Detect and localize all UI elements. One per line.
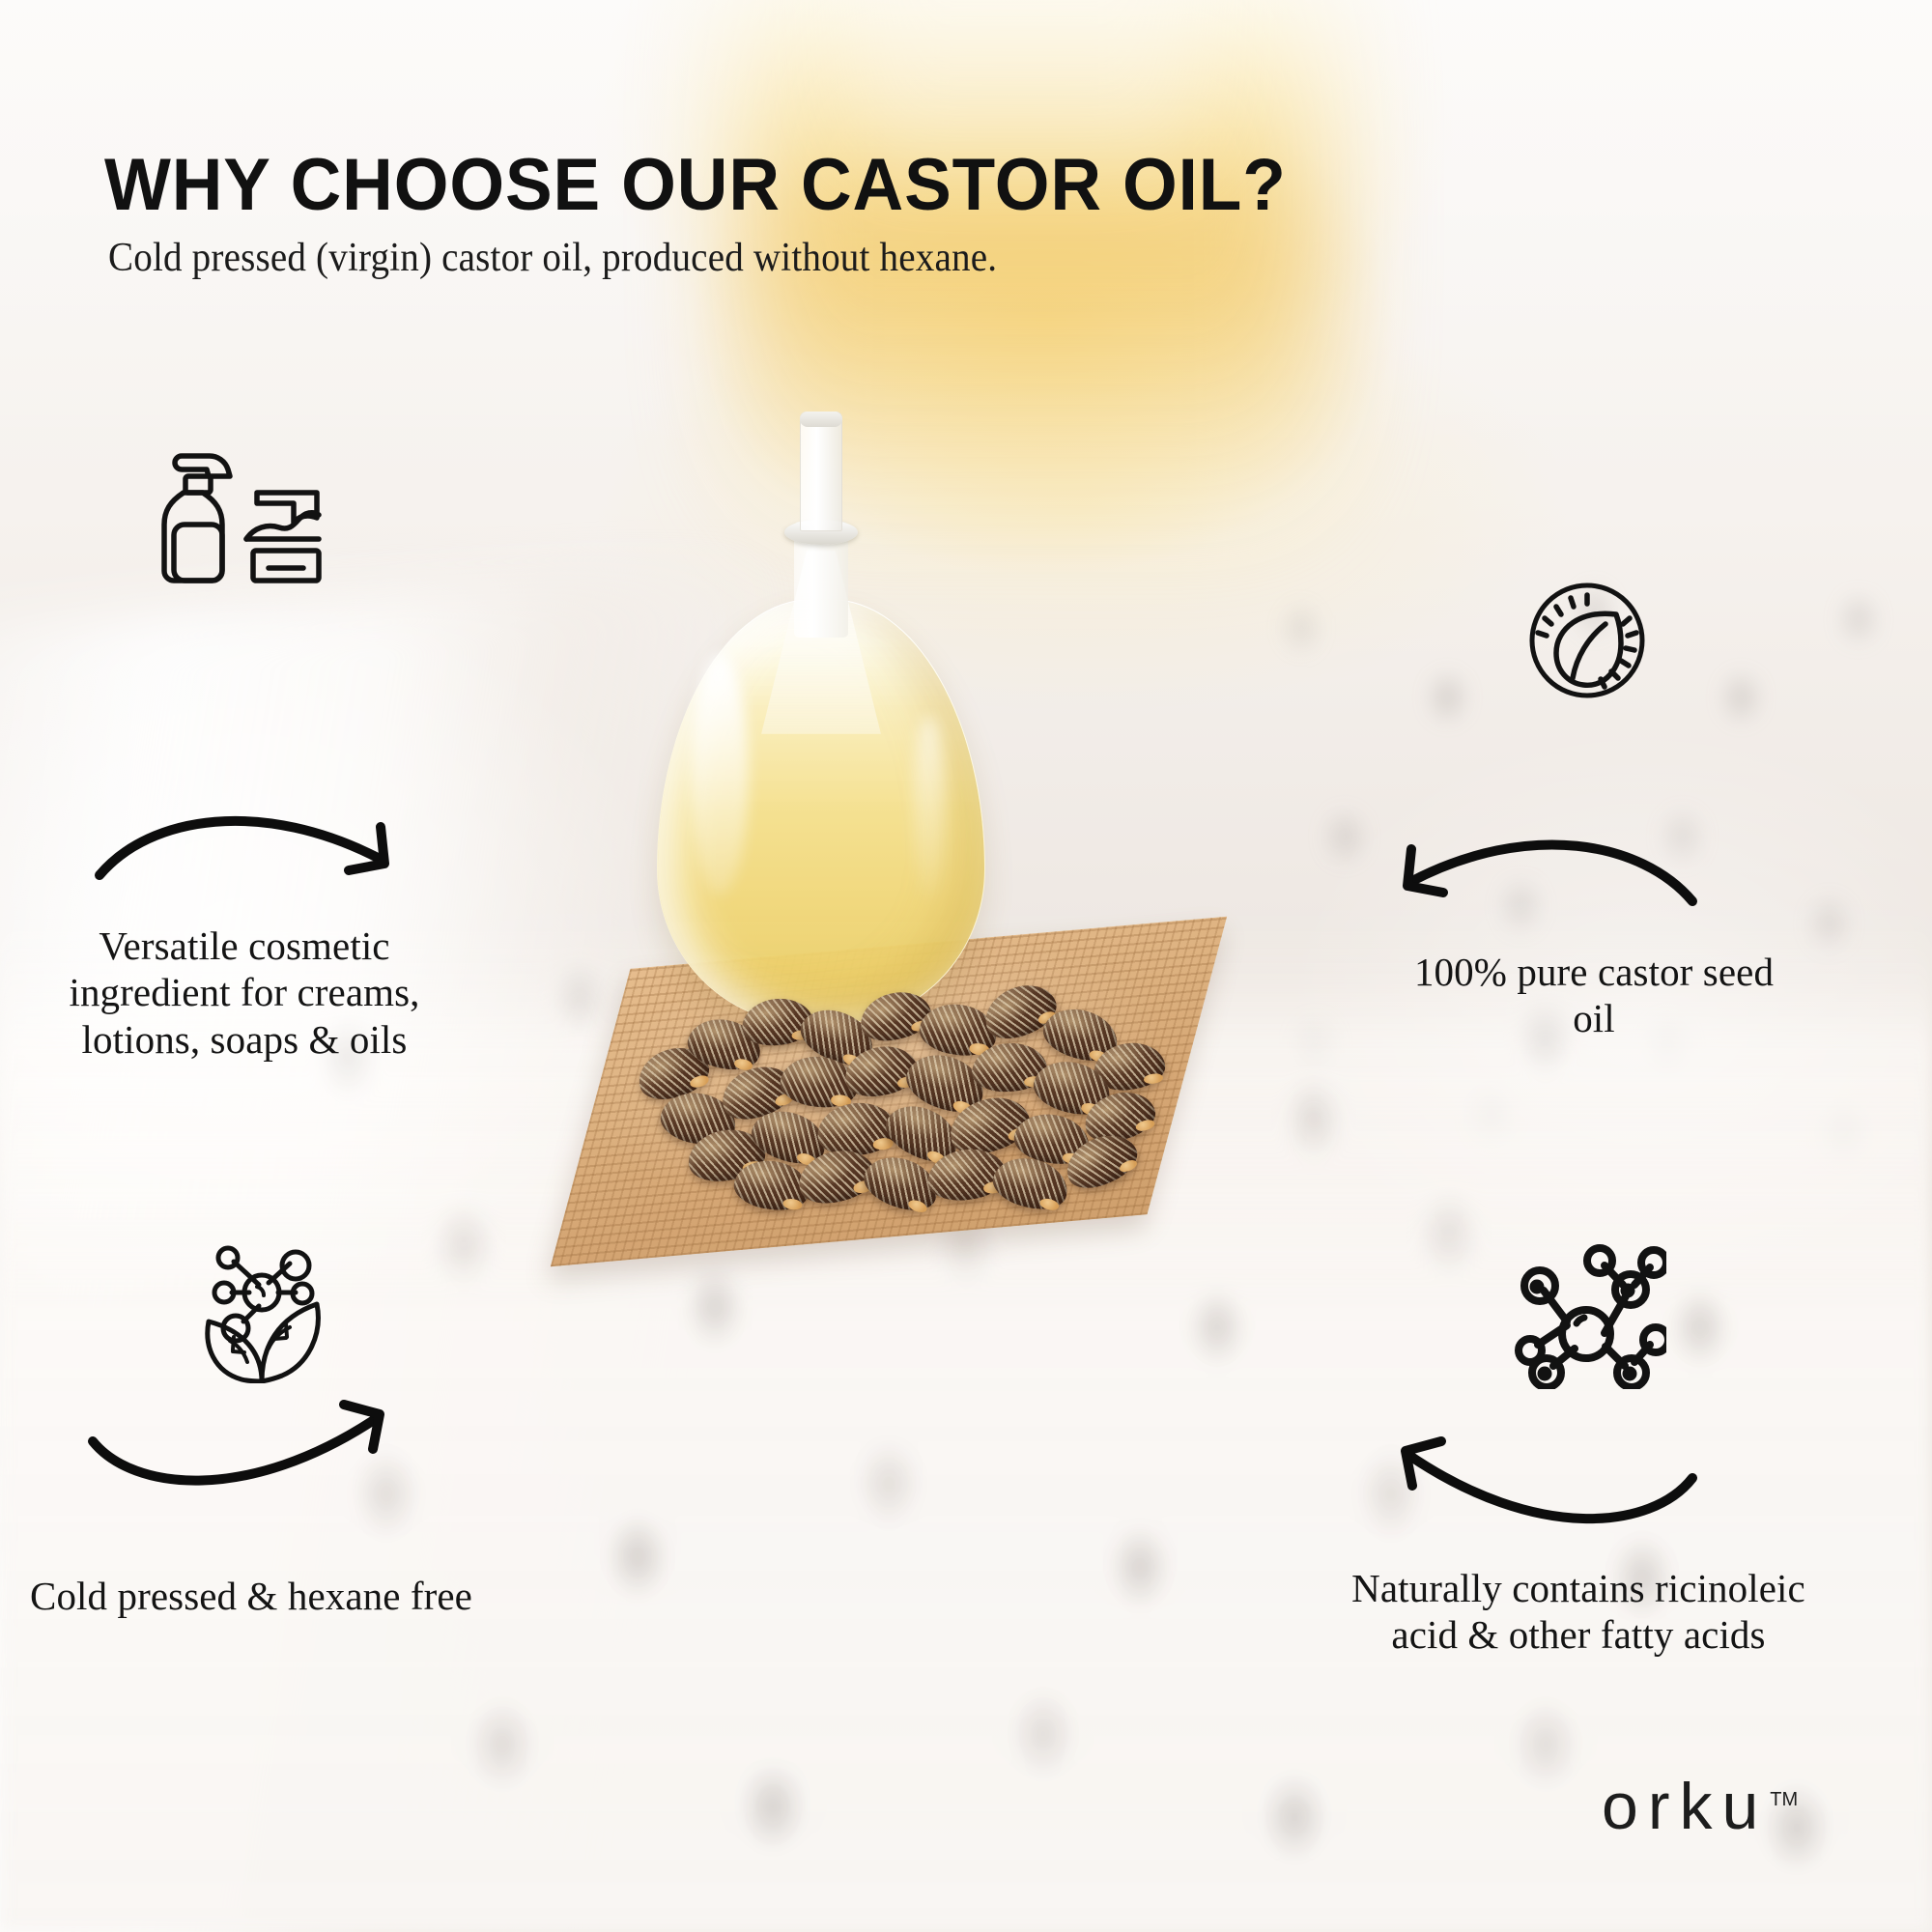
- feature-top-right-label: 100% pure castor seed oil: [1391, 949, 1797, 1042]
- curved-arrow-right-icon: [92, 792, 411, 913]
- molecule-leaf-icon: [189, 1238, 334, 1388]
- curved-arrow-right-icon: [85, 1391, 404, 1512]
- cosmetics-bottle-icon: [145, 433, 328, 597]
- background-bottle-cap: [850, 0, 1198, 164]
- page-title: WHY CHOOSE OUR CASTOR OIL?: [104, 143, 1681, 227]
- bottle-dropper-stem: [800, 412, 842, 531]
- brand-logo: orkuTM: [1602, 1774, 1798, 1839]
- trademark-symbol: TM: [1770, 1789, 1798, 1810]
- infographic-canvas: WHY CHOOSE OUR CASTOR OIL? Cold pressed …: [0, 0, 1932, 1932]
- feature-top-left-label: Versatile cosmetic ingredient for creams…: [27, 923, 462, 1063]
- product-photo: [522, 406, 1410, 1410]
- brand-name: orku: [1602, 1770, 1768, 1843]
- page-subtitle: Cold pressed (virgin) castor oil, produc…: [108, 235, 1546, 281]
- curved-arrow-left-icon: [1381, 816, 1700, 937]
- molecule-network-icon: [1507, 1244, 1666, 1394]
- feature-bottom-right-label: Naturally contains ricinoleic acid & oth…: [1337, 1565, 1820, 1659]
- oil-bottle: [657, 406, 985, 1024]
- leaf-badge-icon: [1524, 578, 1650, 708]
- castor-seed-pile: [628, 985, 1169, 1217]
- curved-arrow-left-icon: [1381, 1430, 1700, 1550]
- feature-bottom-left-label: Cold pressed & hexane free: [19, 1573, 483, 1619]
